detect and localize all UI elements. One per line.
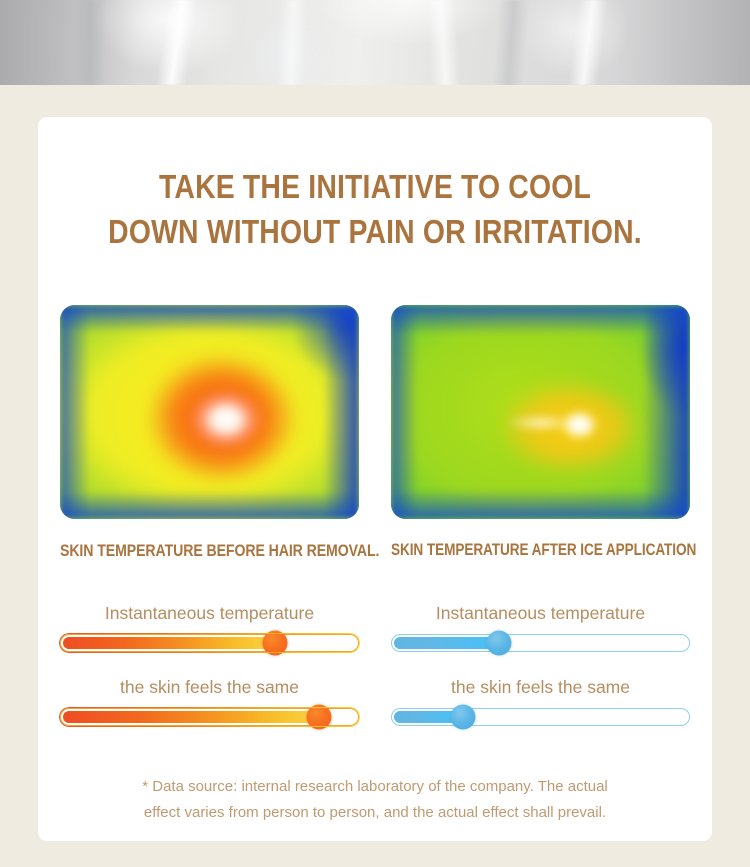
content-card: TAKE THE INITIATIVE TO COOL DOWN WITHOUT… [38, 117, 712, 841]
meter-knob-after-temperature[interactable] [486, 631, 511, 656]
meter-track-before-temperature[interactable] [60, 634, 359, 652]
meter-fill [63, 637, 272, 648]
meter-group-after-temperature: Instantaneous temperature [391, 600, 690, 652]
meter-group-before-temperature: Instantaneous temperature [60, 600, 359, 652]
meters-row: Instantaneous temperature the skin feels… [38, 600, 712, 726]
footnote: * Data source: internal research laborat… [38, 774, 712, 826]
meter-knob-after-feel[interactable] [451, 705, 476, 730]
ice-banner-image [0, 0, 750, 85]
meter-track-before-feel[interactable] [60, 708, 359, 726]
ice-vignette-layer [0, 0, 750, 85]
panel-before: SKIN TEMPERATURE BEFORE HAIR REMOVAL. [60, 305, 359, 561]
meter-label-before-temperature: Instantaneous temperature [60, 600, 359, 626]
thermal-map-cool-image [391, 305, 690, 519]
meter-group-before-feel: the skin feels the same [60, 674, 359, 726]
caption-before: SKIN TEMPERATURE BEFORE HAIR REMOVAL. [60, 541, 308, 561]
meter-label-before-feel: the skin feels the same [60, 674, 359, 700]
thermal-hot-edge [60, 305, 359, 519]
thermal-cool-edge [391, 305, 690, 519]
meters-before: Instantaneous temperature the skin feels… [60, 600, 359, 726]
footnote-line-1: * Data source: internal research laborat… [38, 774, 712, 800]
headline-line-1: TAKE THE INITIATIVE TO COOL [85, 164, 665, 209]
footnote-line-2: effect varies from person to person, and… [38, 800, 712, 826]
meters-after: Instantaneous temperature the skin feels… [391, 600, 690, 726]
meter-fill [394, 637, 496, 648]
headline-line-2: DOWN WITHOUT PAIN OR IRRITATION. [85, 209, 665, 254]
page-title: TAKE THE INITIATIVE TO COOL DOWN WITHOUT… [85, 117, 665, 254]
meter-knob-before-temperature[interactable] [262, 631, 287, 656]
meter-track-after-temperature[interactable] [391, 634, 690, 652]
meter-group-after-feel: the skin feels the same [391, 674, 690, 726]
meter-fill [63, 711, 317, 722]
meter-track-after-feel[interactable] [391, 708, 690, 726]
thermal-comparison-row: SKIN TEMPERATURE BEFORE HAIR REMOVAL. SK… [38, 305, 712, 561]
meter-knob-before-feel[interactable] [307, 705, 332, 730]
caption-after: SKIN TEMPERATURE AFTER ICE APPLICATION [391, 541, 639, 560]
meter-label-after-feel: the skin feels the same [391, 674, 690, 700]
thermal-map-hot-image [60, 305, 359, 519]
panel-after: SKIN TEMPERATURE AFTER ICE APPLICATION [391, 305, 690, 561]
meter-label-after-temperature: Instantaneous temperature [391, 600, 690, 626]
